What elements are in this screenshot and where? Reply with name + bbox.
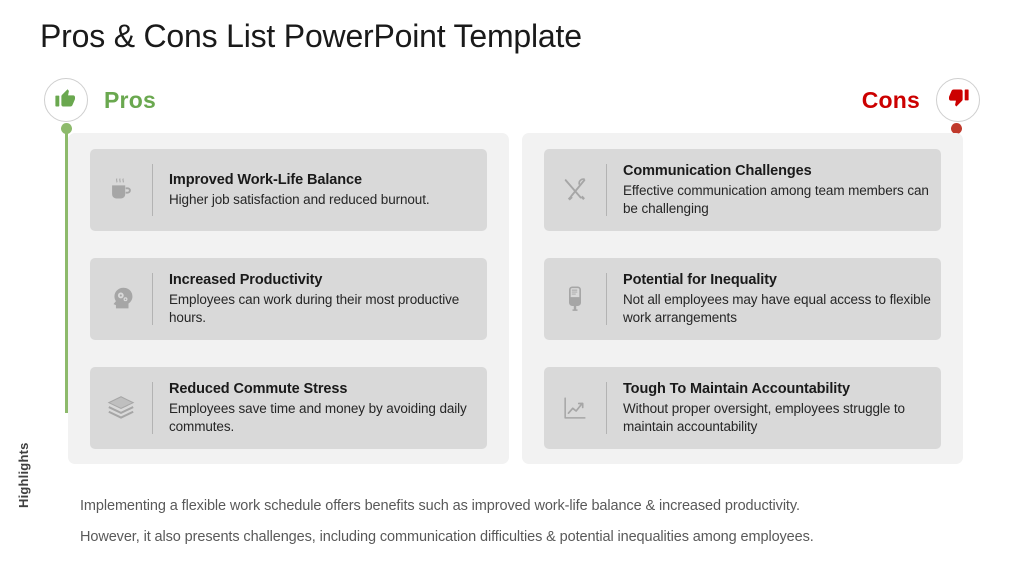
cons-header: Cons — [862, 78, 980, 122]
pros-label: Pros — [104, 87, 156, 114]
highlights-line-1: Implementing a flexible work schedule of… — [80, 497, 980, 516]
pros-card-1-desc: Higher job satisfaction and reduced burn… — [169, 191, 430, 209]
cons-card-3-desc: Without proper oversight, employees stru… — [623, 400, 931, 436]
thumbs-up-icon — [54, 86, 78, 115]
crossed-tools-icon — [544, 175, 606, 205]
stacked-layers-icon — [90, 393, 152, 423]
cons-card-3-text: Tough To Maintain Accountability Without… — [607, 380, 941, 437]
thumbs-down-icon — [946, 86, 970, 115]
cons-card-1-title: Communication Challenges — [623, 162, 931, 180]
pros-card-2-text: Increased Productivity Employees can wor… — [153, 271, 487, 328]
highlights-body: Implementing a flexible work schedule of… — [80, 497, 980, 559]
cons-card-2-desc: Not all employees may have equal access … — [623, 291, 931, 327]
slide-canvas: Pros & Cons List PowerPoint Template Pro… — [0, 0, 1024, 576]
cons-card-1-desc: Effective communication among team membe… — [623, 182, 931, 218]
pros-card-3[interactable]: Reduced Commute Stress Employees save ti… — [90, 367, 487, 449]
cons-card-1[interactable]: Communication Challenges Effective commu… — [544, 149, 941, 231]
pros-card-3-desc: Employees save time and money by avoidin… — [169, 400, 477, 436]
pros-card-2[interactable]: Increased Productivity Employees can wor… — [90, 258, 487, 340]
cons-card-2-title: Potential for Inequality — [623, 271, 931, 289]
highlights-line-2: However, it also presents challenges, in… — [80, 528, 980, 547]
cons-label: Cons — [862, 87, 920, 114]
thumbs-up-badge — [44, 78, 88, 122]
highlights-label: Highlights — [16, 418, 31, 508]
cons-card-2[interactable]: Potential for Inequality Not all employe… — [544, 258, 941, 340]
iv-bag-icon — [544, 284, 606, 314]
pros-card-3-title: Reduced Commute Stress — [169, 380, 477, 398]
thumbs-down-badge — [936, 78, 980, 122]
cons-card-1-text: Communication Challenges Effective commu… — [607, 162, 941, 219]
coffee-cup-icon — [90, 175, 152, 205]
pros-header: Pros — [44, 78, 156, 122]
cons-card-3[interactable]: Tough To Maintain Accountability Without… — [544, 367, 941, 449]
pros-card-1-title: Improved Work-Life Balance — [169, 171, 430, 189]
cons-card-3-title: Tough To Maintain Accountability — [623, 380, 931, 398]
cons-panel: Communication Challenges Effective commu… — [522, 133, 963, 464]
pros-card-3-text: Reduced Commute Stress Employees save ti… — [153, 380, 487, 437]
pros-card-2-desc: Employees can work during their most pro… — [169, 291, 477, 327]
pros-card-2-title: Increased Productivity — [169, 271, 477, 289]
pros-panel: Improved Work-Life Balance Higher job sa… — [68, 133, 509, 464]
line-chart-icon — [544, 393, 606, 423]
pros-card-1[interactable]: Improved Work-Life Balance Higher job sa… — [90, 149, 487, 231]
cons-card-2-text: Potential for Inequality Not all employe… — [607, 271, 941, 328]
page-title: Pros & Cons List PowerPoint Template — [40, 18, 582, 55]
head-with-gears-icon — [90, 284, 152, 314]
pros-card-1-text: Improved Work-Life Balance Higher job sa… — [153, 171, 440, 209]
